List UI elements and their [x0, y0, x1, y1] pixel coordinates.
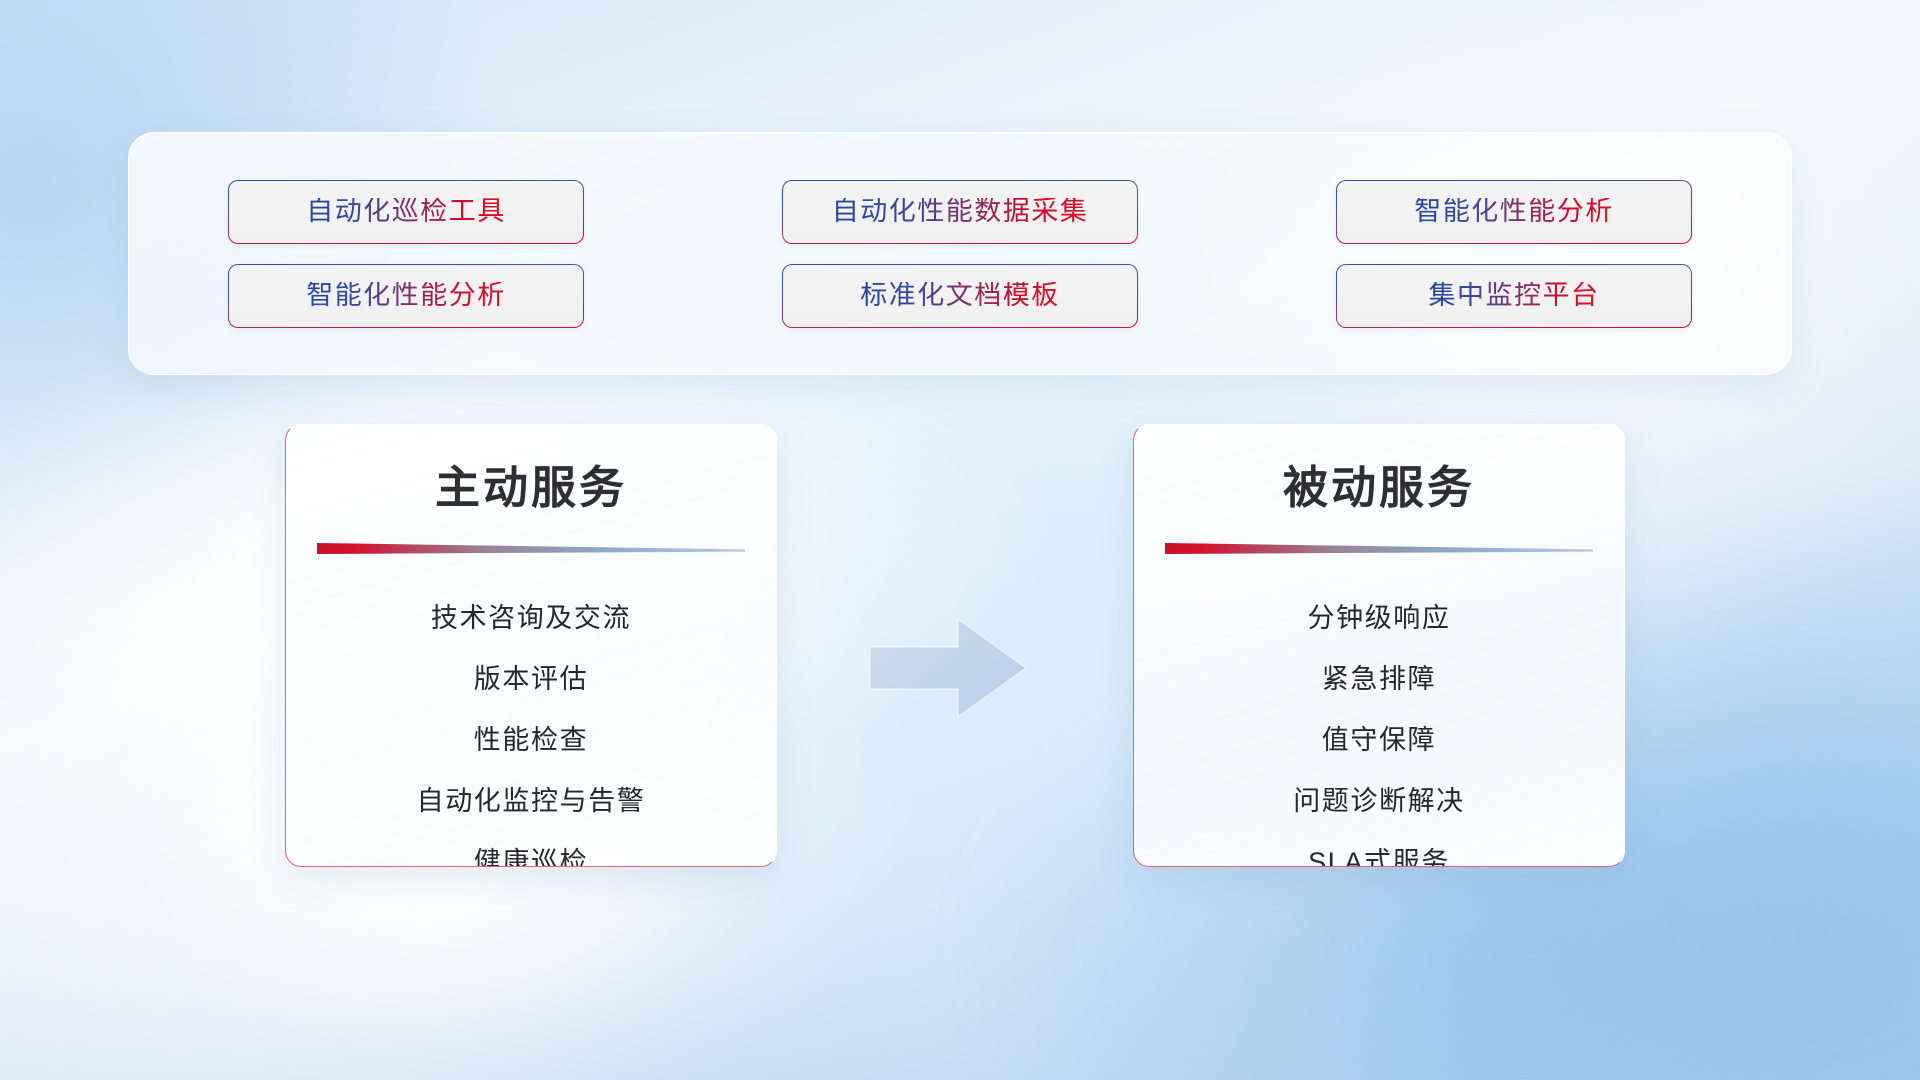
capability-pill-label: 智能化性能分析: [1414, 198, 1614, 225]
list-item: 分钟级响应: [1308, 588, 1451, 649]
card-divider-bar: [1165, 542, 1593, 554]
list-item: 紧急排障: [1322, 649, 1436, 710]
service-card-reactive: 被动服务 分钟级响应 紧急排障 值守保障 问题诊断解决 SLA式服务: [1133, 424, 1625, 867]
list-item: 版本评估: [474, 649, 588, 710]
capability-pill-label: 集中监控平台: [1429, 282, 1600, 309]
service-list-proactive: 技术咨询及交流 版本评估 性能检查 自动化监控与告警 健康巡检: [286, 588, 776, 867]
capability-row-2: 智能化性能分析 标准化文档模板 集中监控平台: [129, 264, 1791, 328]
capability-row-1: 自动化巡检工具 自动化性能数据采集 智能化性能分析: [129, 180, 1791, 244]
list-item: 技术咨询及交流: [431, 588, 631, 649]
capability-pill-centralized-monitoring-platform[interactable]: 集中监控平台: [1336, 264, 1692, 328]
list-item: 值守保障: [1322, 710, 1436, 771]
list-item: 性能检查: [474, 710, 588, 771]
capability-pill-automated-inspection-tool[interactable]: 自动化巡检工具: [228, 180, 584, 244]
capability-pill-label: 标准化文档模板: [860, 282, 1060, 309]
service-card-proactive: 主动服务 技术咨询及交流 版本评估 性能检查 自动化监控与告警 健康巡检: [285, 424, 777, 867]
list-item: 健康巡检: [474, 832, 588, 867]
card-divider: [1165, 542, 1593, 554]
list-item: 问题诊断解决: [1293, 771, 1465, 832]
card-title-reactive: 被动服务: [1134, 465, 1624, 510]
right-arrow-icon: [866, 613, 1030, 723]
capability-panel: 自动化巡检工具 自动化性能数据采集 智能化性能分析 智能化性能分析 标准化文档模…: [128, 132, 1792, 375]
list-item: SLA式服务: [1308, 832, 1450, 867]
capability-pill-intelligent-performance-analysis[interactable]: 智能化性能分析: [228, 264, 584, 328]
service-list-reactive: 分钟级响应 紧急排障 值守保障 问题诊断解决 SLA式服务: [1134, 588, 1624, 867]
capability-pill-intelligent-performance-analysis-top[interactable]: 智能化性能分析: [1336, 180, 1692, 244]
list-item: 自动化监控与告警: [417, 771, 646, 832]
capability-pill-automated-performance-data-collection[interactable]: 自动化性能数据采集: [782, 180, 1138, 244]
card-title-proactive: 主动服务: [286, 465, 776, 510]
capability-pill-label: 智能化性能分析: [306, 282, 506, 309]
capability-pill-label: 自动化性能数据采集: [832, 198, 1089, 225]
capability-pill-standardized-document-template[interactable]: 标准化文档模板: [782, 264, 1138, 328]
card-divider: [317, 542, 745, 554]
card-divider-bar: [317, 542, 745, 554]
slide-canvas: 自动化巡检工具 自动化性能数据采集 智能化性能分析 智能化性能分析 标准化文档模…: [0, 0, 1920, 1080]
capability-pill-label: 自动化巡检工具: [306, 198, 506, 225]
